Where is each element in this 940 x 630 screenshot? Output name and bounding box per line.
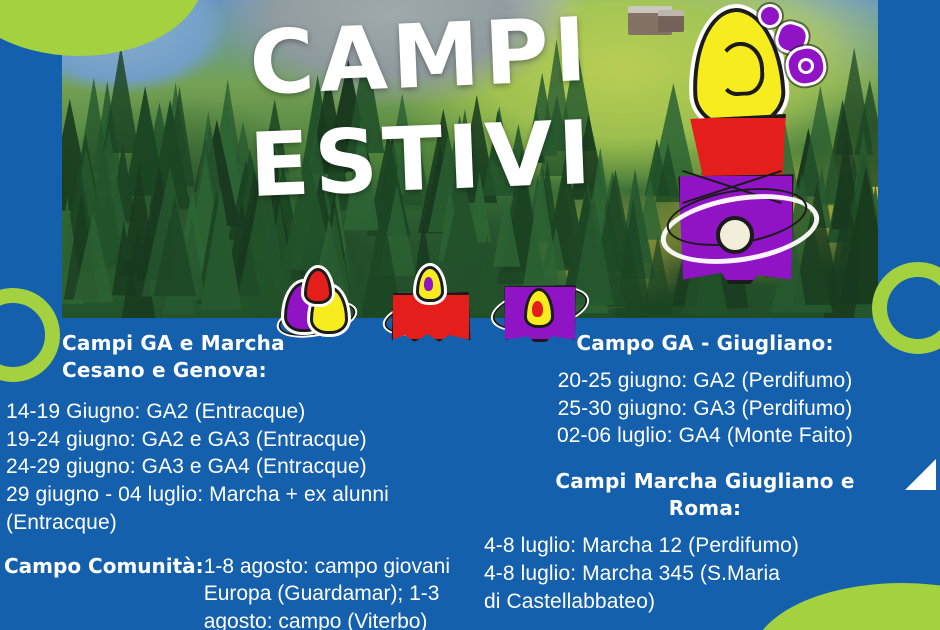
list-item: di Castellabbateo) xyxy=(484,588,940,616)
right-heading-1: Campo GA - Giugliano: xyxy=(470,330,940,357)
comunita-candle-icon xyxy=(498,266,576,336)
list-item: 25-30 giugno: GA3 (Perdifumo) xyxy=(470,395,940,423)
right-heading-2-line-2: Roma: xyxy=(470,495,940,522)
left-entries-list: 14-19 Giugno: GA2 (Entracque) 19-24 giug… xyxy=(0,398,470,537)
marcha-flame-icon xyxy=(416,266,444,302)
right-text-column: Campo GA - Giugliano: 20-25 giugno: GA2 … xyxy=(470,330,940,615)
left-heading-line-2: Cesano e Genova: xyxy=(0,357,470,384)
list-item: 29 giugno - 04 luglio: Marcha + ex alunn… xyxy=(6,481,470,509)
right-entries-list-1: 20-25 giugno: GA2 (Perdifumo) 25-30 giug… xyxy=(470,367,940,450)
list-item: 14-19 Giugno: GA2 (Entracque) xyxy=(6,398,470,426)
right-entries-list-2: 4-8 luglio: Marcha 12 (Perdifumo) 4-8 lu… xyxy=(470,532,940,615)
list-item: 02-06 luglio: GA4 (Monte Faito) xyxy=(470,422,940,450)
poster: CAMPI ESTIVI Campi GA e Marcha Cesano e … xyxy=(0,0,940,630)
list-item: 20-25 giugno: GA2 (Perdifumo) xyxy=(470,367,940,395)
list-item: (Entracque) xyxy=(6,509,470,537)
right-heading-2-line-1: Campi Marcha Giugliano e xyxy=(470,468,940,495)
campo-comunita-text: 1-8 agosto: campo giovani Europa (Guarda… xyxy=(204,553,470,630)
ga-candle-icon xyxy=(282,268,346,338)
campo-comunita-block: Campo Comunità: 1-8 agosto: campo giovan… xyxy=(0,553,470,630)
list-item: 4-8 luglio: Marcha 12 (Perdifumo) xyxy=(484,532,940,560)
left-heading-line-1: Campi GA e Marcha xyxy=(0,330,470,357)
candle-knot-icon xyxy=(716,216,754,254)
marcha-candle-icon xyxy=(388,266,468,336)
list-item: 24-29 giugno: GA3 e GA4 (Entracque) xyxy=(6,453,470,481)
bubble-small-icon xyxy=(758,4,782,28)
ga-red-flame-icon xyxy=(304,268,332,304)
campo-comunita-label: Campo Comunità: xyxy=(4,553,204,579)
list-item: 4-8 luglio: Marcha 345 (S.Maria xyxy=(484,560,940,588)
list-item: 19-24 giugno: GA2 e GA3 (Entracque) xyxy=(6,426,470,454)
left-text-column: Campi GA e Marcha Cesano e Genova: 14-19… xyxy=(0,330,470,630)
